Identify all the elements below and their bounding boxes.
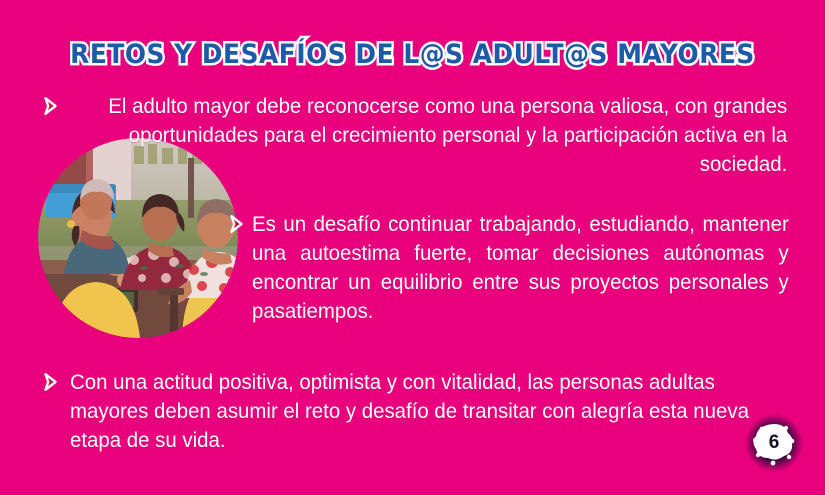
chevron-right-icon: [228, 214, 248, 234]
chevron-right-icon: [42, 372, 62, 392]
bullet-paragraph-1: El adulto mayor debe reconocerse como un…: [70, 92, 787, 179]
slide-canvas: RETOS Y DESAFÍOS DE L@S ADULT@S MAYORES: [0, 0, 825, 495]
bullet-paragraph-2: Es un desafío continuar trabajando, estu…: [252, 210, 789, 355]
page-number-text: 6: [745, 414, 803, 472]
chevron-right-icon: [42, 96, 62, 116]
bullet-paragraph-3: Con una actitud positiva, optimista y co…: [70, 368, 792, 455]
page-number-badge: 6: [745, 414, 803, 472]
page-title: RETOS Y DESAFÍOS DE L@S ADULT@S MAYORES: [33, 38, 792, 72]
